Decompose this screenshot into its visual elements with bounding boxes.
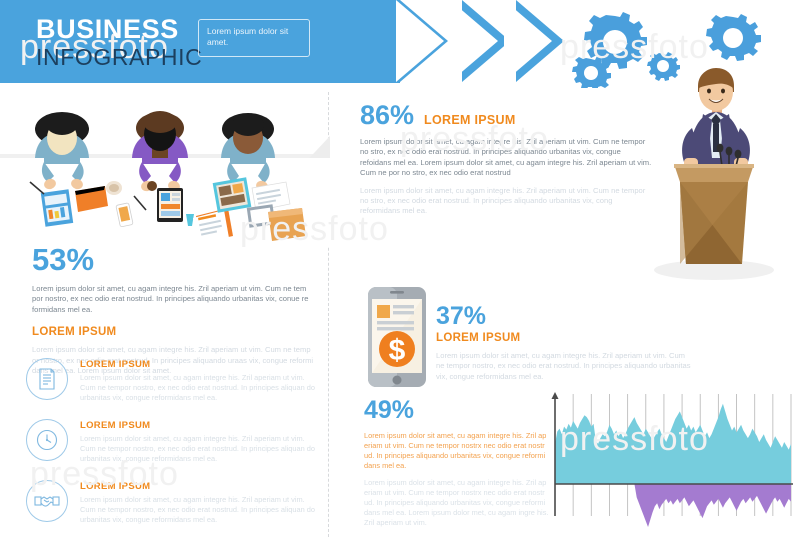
watermark: pressfoto (560, 420, 709, 459)
watermark: pressfoto (400, 120, 549, 159)
document-icon (26, 358, 68, 400)
svg-text:$: $ (389, 334, 406, 367)
stat-block-53: 53% Lorem ipsum dolor sit amet, cu agam … (32, 243, 317, 376)
infographic-page: BUSINESS INFOGRAPHIC Lorem ipsum dolor s… (0, 0, 799, 542)
podium (674, 164, 754, 264)
gear-medium (706, 14, 761, 61)
list-item-title: LOREM IPSUM (80, 359, 322, 370)
page-title-primary: BUSINESS (36, 14, 202, 44)
area-chart (543, 392, 795, 532)
stat-49-body: Lorem ipsum dolor sit amet, cu agam inte… (364, 431, 549, 471)
stat-53-body: Lorem ipsum dolor sit amet, cu agam inte… (32, 284, 317, 315)
watermark: pressfoto (560, 28, 709, 67)
list-item-title: LOREM IPSUM (80, 420, 322, 431)
stat-block-37: 37% LOREM IPSUM Lorem ipsum dolor sit am… (436, 302, 694, 382)
stat-86-body2: Lorem ipsum dolor sit amet, cu agam inte… (360, 186, 652, 217)
speaker-podium-illustration (630, 58, 799, 290)
chart-series-lower (555, 484, 791, 527)
page-title-secondary: INFOGRAPHIC (36, 44, 202, 70)
stat-block-49: 49% Lorem ipsum dolor sit amet, cu agam … (364, 396, 549, 528)
feature-icon-list: LOREM IPSUM Lorem ipsum dolor sit amet, … (26, 358, 322, 541)
stat-53-subhead: LOREM IPSUM (32, 326, 317, 338)
header-chevron-cut-1 (396, 0, 444, 82)
smartphone-illustration: $ (366, 286, 428, 388)
stat-37-body: Lorem ipsum dolor sit amet, cu agam inte… (436, 351, 694, 382)
stat-37-percent: 37% (436, 302, 694, 330)
stat-37-subhead: LOREM IPSUM (436, 332, 694, 344)
list-item-body: Lorem ipsum dolor sit amet, cu agam inte… (80, 495, 322, 525)
header-note-box: Lorem ipsum dolor sit amet. (198, 19, 310, 57)
chart-y-axis-arrow (552, 392, 559, 399)
watermark: pressfoto (240, 210, 389, 249)
watermark: pressfoto (30, 455, 179, 494)
title-block: BUSINESS INFOGRAPHIC (36, 14, 202, 70)
list-item-body: Lorem ipsum dolor sit amet, cu agam inte… (80, 373, 322, 403)
header-chevron-cut-2 (450, 0, 498, 82)
stat-49-percent: 49% (364, 396, 549, 424)
stat-49-body2: Lorem ipsum dolor sit amet, cu agam inte… (364, 478, 549, 528)
header-chevron-cut-3 (504, 0, 552, 82)
list-item[interactable]: LOREM IPSUM Lorem ipsum dolor sit amet, … (26, 358, 322, 403)
